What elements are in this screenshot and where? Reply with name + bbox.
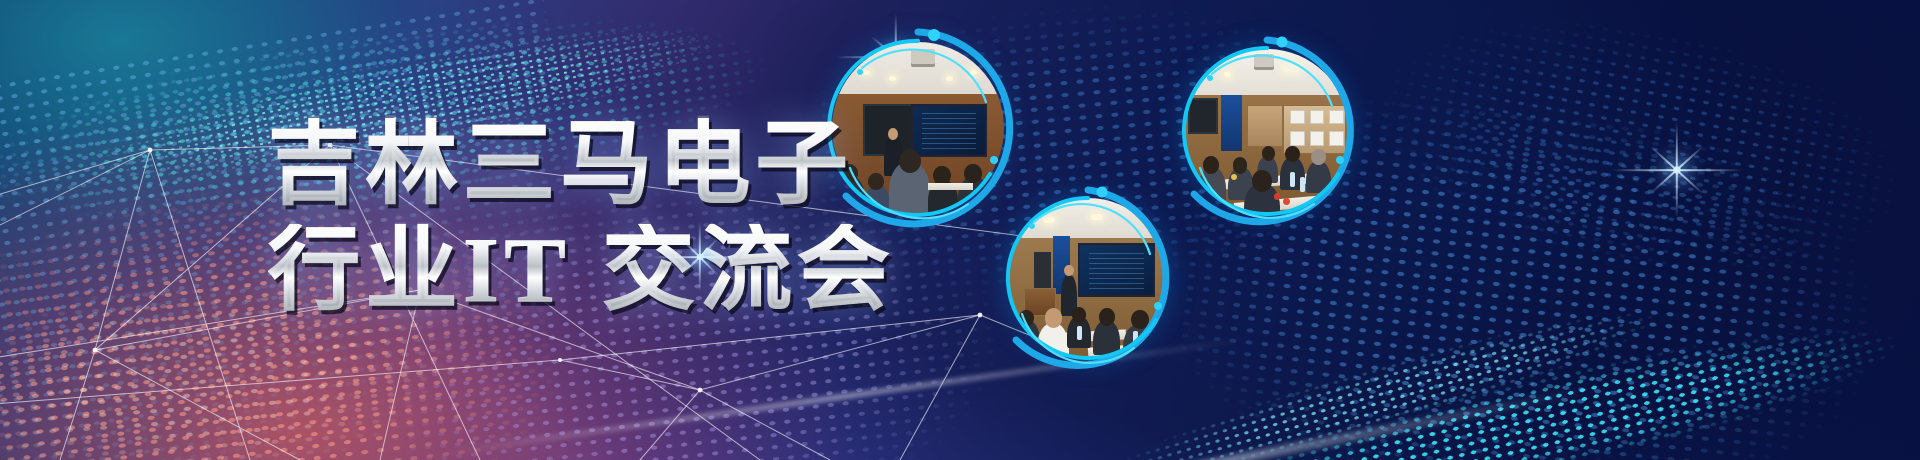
event-banner: 吉林三马电子 行业IT 交流会 (0, 0, 1920, 460)
title-line-2-latin: IT (463, 219, 571, 321)
title-line-1: 吉林三马电子 (268, 118, 895, 210)
title-line-2-prefix: 行业 (268, 219, 463, 321)
banner-title: 吉林三马电子 行业IT 交流会 (268, 118, 895, 316)
photo-meeting-attendees (1172, 36, 1362, 226)
title-line-2-suffix: 交流会 (602, 219, 895, 321)
photo-seminar-speaker (996, 186, 1180, 370)
title-line-2: 行业IT 交流会 (268, 224, 895, 316)
